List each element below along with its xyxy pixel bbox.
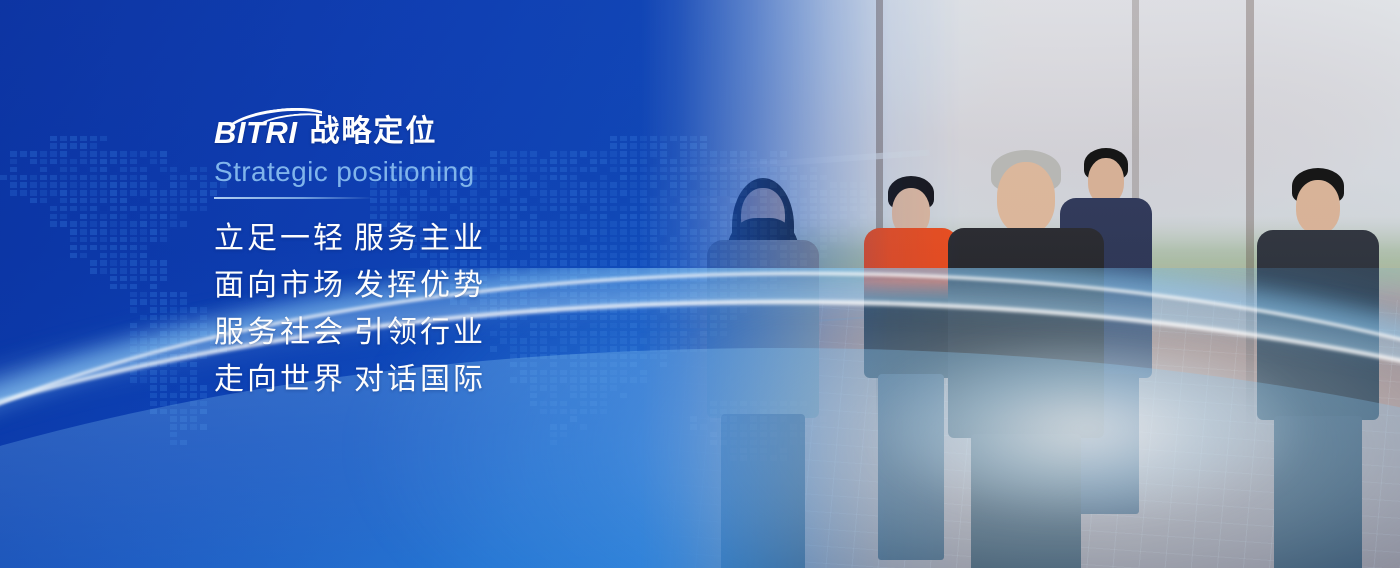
person-man-dark-jacket-right [1252, 168, 1384, 568]
slogan-left: 服务社会 [214, 309, 354, 356]
strategic-positioning-banner: BITRI 战略定位 Strategic positioning 立足一轻服务主… [0, 0, 1400, 568]
slogan-list: 立足一轻服务主业面向市场发挥优势服务社会引领行业走向世界对话国际 [214, 215, 654, 403]
slogan-left: 立足一轻 [214, 215, 354, 262]
head [1296, 180, 1340, 234]
slogan-line: 立足一轻服务主业 [214, 215, 654, 262]
slogan-left: 面向市场 [214, 262, 354, 309]
page-subtitle: Strategic positioning [214, 157, 654, 188]
bitri-logo: BITRI [214, 108, 297, 148]
swoosh-arc-icon [230, 108, 322, 124]
head [997, 162, 1055, 234]
page-title: 战略定位 [309, 117, 437, 148]
photo-region [640, 0, 1400, 568]
banner-content: BITRI 战略定位 Strategic positioning 立足一轻服务主… [214, 104, 654, 403]
legs [878, 374, 944, 560]
slogan-line: 面向市场发挥优势 [214, 262, 654, 309]
slogan-right: 引领行业 [354, 309, 486, 356]
torso [707, 240, 819, 418]
slogan-line: 走向世界对话国际 [214, 356, 654, 403]
torso [1257, 230, 1379, 420]
person-woman-grey-jacket [698, 178, 828, 568]
title-row: BITRI 战略定位 [214, 104, 654, 148]
torso [948, 228, 1104, 438]
slogan-right: 服务主业 [354, 215, 486, 262]
legs [971, 434, 1081, 568]
person-man-black-jacket-center [940, 150, 1112, 568]
legs [1274, 416, 1362, 568]
slogan-right: 对话国际 [354, 356, 486, 403]
title-divider [214, 197, 374, 199]
slogan-line: 服务社会引领行业 [214, 309, 654, 356]
slogan-right: 发挥优势 [354, 262, 486, 309]
slogan-left: 走向世界 [214, 356, 354, 403]
legs [721, 414, 805, 568]
